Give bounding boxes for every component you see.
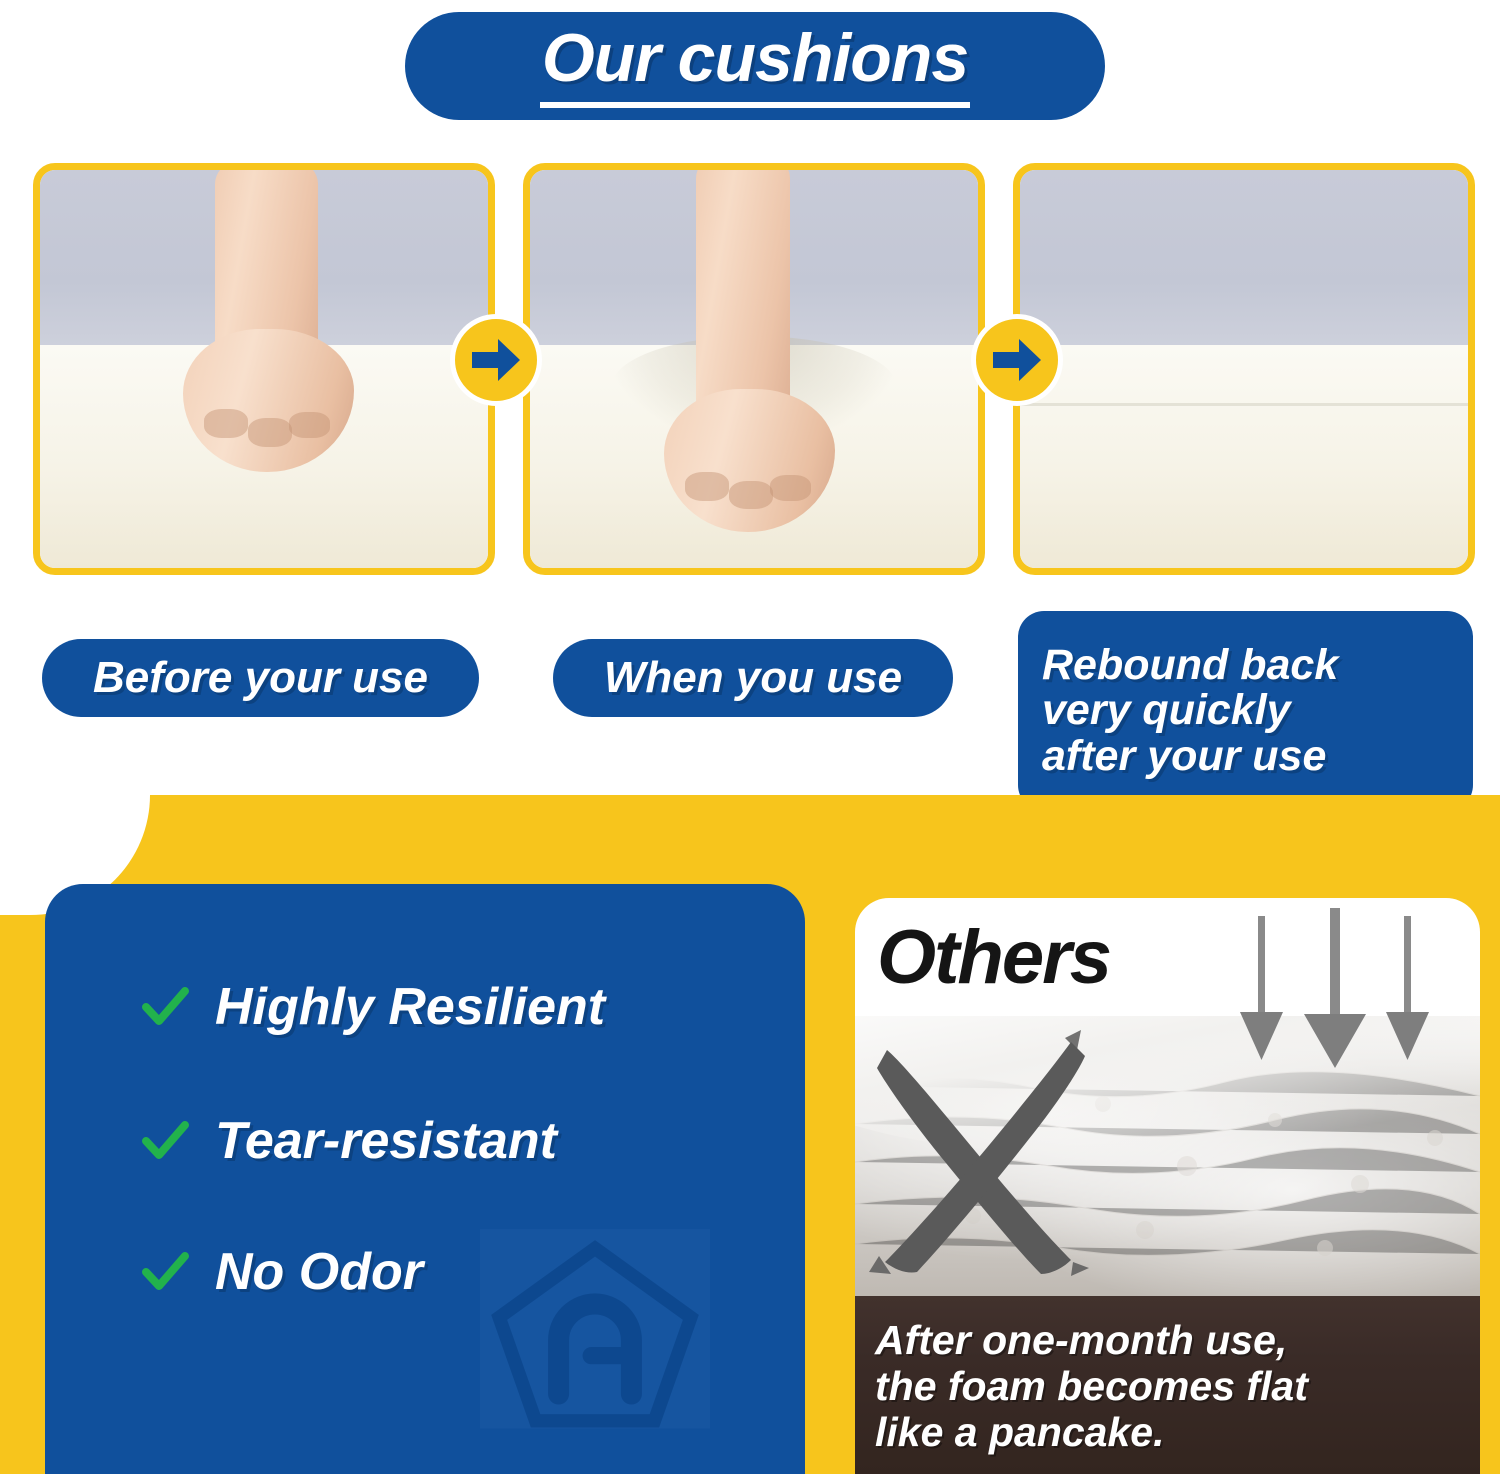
step-arrow-1	[450, 314, 542, 406]
photo-foam-surface-restored	[1020, 345, 1468, 568]
step-photo-during	[523, 163, 985, 575]
step-photo-after	[1013, 163, 1475, 575]
step-caption-label: When you use	[604, 656, 902, 701]
caption-line: the foam becomes flat	[875, 1363, 1308, 1409]
title-underline	[540, 102, 970, 108]
photo-backdrop	[1020, 170, 1468, 357]
pentagon-a-logo-icon	[480, 1229, 710, 1444]
benefit-label: Tear-resistant	[215, 1111, 557, 1171]
step-photo-before	[33, 163, 495, 575]
step-caption-label-multiline: Rebound back very quickly after your use	[1042, 643, 1338, 780]
caption-line: very quickly	[1042, 686, 1291, 734]
caption-line: After one-month use,	[875, 1317, 1287, 1363]
caption-line: after your use	[1042, 732, 1326, 780]
step-caption-during: When you use	[553, 639, 953, 717]
infographic-page: Our cushions	[0, 0, 1500, 1474]
knuckle-crease	[685, 472, 729, 501]
check-icon	[141, 983, 189, 1031]
knuckle-crease	[204, 409, 248, 438]
check-icon	[141, 1248, 189, 1296]
step-arrow-2	[971, 314, 1063, 406]
check-icon	[141, 1117, 189, 1165]
benefit-item-tear-resistant: Tear-resistant	[141, 1111, 557, 1171]
knuckle-crease	[770, 475, 811, 501]
others-title: Others	[877, 920, 1110, 996]
knuckle-crease	[248, 418, 292, 447]
step-caption-label: Before your use	[93, 656, 428, 701]
arrow-right-icon	[991, 337, 1043, 383]
arrow-right-icon	[470, 337, 522, 383]
others-caption: After one-month use, the foam becomes fl…	[875, 1318, 1308, 1456]
knuckle-crease	[729, 481, 773, 510]
benefit-label: No Odor	[215, 1242, 423, 1302]
down-arrows-icon	[1222, 908, 1452, 1068]
caption-line: Rebound back	[1042, 641, 1338, 689]
x-brush-mark-icon	[865, 1016, 1165, 1286]
step-caption-before: Before your use	[42, 639, 479, 717]
others-comparison-card: Others	[855, 898, 1480, 1474]
benefit-label: Highly Resilient	[215, 977, 605, 1037]
page-title: Our cushions	[542, 24, 968, 92]
step-caption-after: Rebound back very quickly after your use	[1018, 611, 1473, 811]
benefit-item-no-odor: No Odor	[141, 1242, 423, 1302]
page-title-pill: Our cushions	[405, 12, 1105, 120]
knuckle-crease	[289, 412, 330, 438]
caption-line: like a pancake.	[875, 1409, 1164, 1455]
benefit-item-highly-resilient: Highly Resilient	[141, 977, 605, 1037]
benefits-panel: Highly Resilient Tear-resistant No Odor	[45, 884, 805, 1474]
